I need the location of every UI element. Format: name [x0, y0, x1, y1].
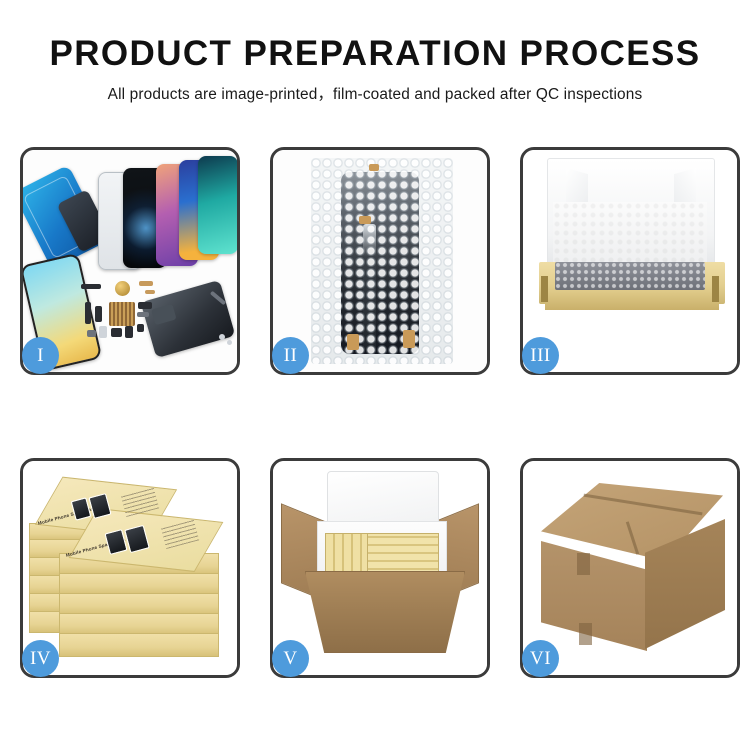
bubble-wrap-bag [311, 158, 453, 364]
step-image-carton-loading [273, 461, 487, 675]
adhesive-tape [369, 164, 379, 171]
step-image-stacked-retail-boxes: Mobile Phone Spare Parts Mobile Phone Sp… [23, 461, 237, 675]
box-corner-right [712, 276, 719, 302]
adhesive-tape [359, 216, 371, 224]
spare-part [125, 326, 133, 338]
screw-part [219, 334, 225, 340]
gold-chip-grid [109, 302, 135, 326]
gold-coin-part [115, 281, 130, 296]
teal-gradient-phone [198, 156, 237, 254]
retail-box [59, 573, 219, 595]
spare-part [139, 281, 153, 286]
step-image-sealed-shipping-carton [523, 461, 737, 675]
screw-part [227, 340, 232, 345]
step-panel-2[interactable]: II [270, 147, 490, 375]
bubble-wrapped-contents [555, 262, 705, 290]
brown-carton-body [305, 571, 465, 653]
step-image-bubble-wrap-packing [273, 150, 487, 372]
kraft-box-front [545, 290, 719, 310]
page-subtitle: All products are image-printed，film-coat… [0, 82, 750, 104]
retail-box [59, 633, 219, 657]
step-badge-4: IV [22, 640, 59, 677]
spare-part [145, 290, 155, 294]
spare-part [137, 312, 149, 317]
step-panel-4[interactable]: Mobile Phone Spare Parts Mobile Phone Sp… [20, 458, 240, 678]
box-stack: Mobile Phone Spare Parts Mobile Phone Sp… [23, 461, 237, 675]
carton-front-face [541, 541, 647, 651]
box-corner-left [541, 276, 548, 302]
page-title: PRODUCT PREPARATION PROCESS [0, 36, 750, 73]
carton-tab [577, 553, 590, 575]
process-step-grid: I II [20, 147, 740, 678]
step-badge-2: II [272, 337, 309, 374]
bubble-texture [311, 158, 453, 364]
step-image-foam-lined-box [523, 150, 737, 372]
step-badge-5: V [272, 640, 309, 677]
carton-tab [579, 623, 592, 645]
spare-part [137, 324, 144, 332]
spare-part [138, 302, 152, 309]
page-header: PRODUCT PREPARATION PROCESS All products… [0, 0, 750, 104]
step-panel-6[interactable]: VI [520, 458, 740, 678]
step-panel-1[interactable]: I [20, 147, 240, 375]
step-badge-6: VI [522, 640, 559, 677]
step-badge-3: III [522, 337, 559, 374]
spare-part [111, 328, 122, 337]
foam-sheet [553, 202, 707, 268]
step-image-product-display [23, 150, 237, 372]
spare-part [95, 306, 102, 322]
adhesive-tape [403, 330, 415, 348]
spare-part [99, 326, 107, 338]
retail-box [59, 613, 219, 635]
spare-part [87, 330, 96, 337]
yellow-boxes-row [367, 533, 439, 577]
step-panel-3[interactable]: III [520, 147, 740, 375]
retail-box [59, 593, 219, 615]
spare-part [85, 302, 91, 324]
step-panel-5[interactable]: V [270, 458, 490, 678]
step-badge-1: I [22, 337, 59, 374]
spare-part [81, 284, 101, 289]
adhesive-tape [347, 334, 359, 350]
